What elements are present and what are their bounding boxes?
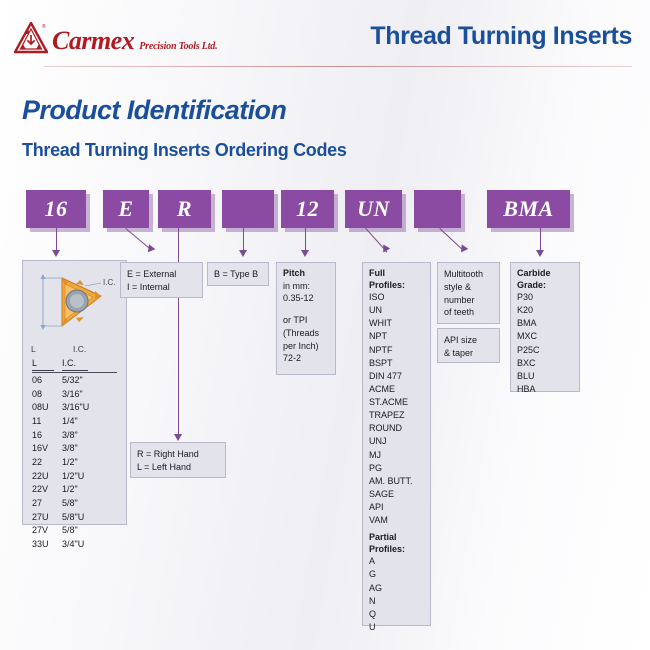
code-box-profile[interactable]: UN [345, 190, 402, 228]
size-table-cell-l: 27V [32, 524, 62, 538]
carmex-triangle-logo-icon: ® [14, 22, 48, 54]
size-table-cell-l: 22V [32, 483, 62, 497]
size-table-cell-ic: 3/8" [62, 442, 114, 456]
brand-tagline: Precision Tools Ltd. [139, 41, 217, 52]
code-box-hand-ext[interactable]: E [103, 190, 149, 228]
full-profiles-heading-line1: Full [369, 268, 424, 280]
code-box-direction[interactable]: R [158, 190, 211, 228]
size-table-row: 275/8" [32, 497, 117, 511]
connector-direction-arrow [174, 434, 182, 441]
connector-size [56, 228, 57, 252]
code-box-grade[interactable]: BMA [487, 190, 570, 228]
multitooth-line4: of teeth [444, 306, 493, 319]
size-table-row: 33U3/4"U [32, 538, 117, 552]
size-table-row: 163/8" [32, 429, 117, 443]
type-line: B = Type B [214, 268, 262, 281]
full-profile-item: NPT [369, 330, 424, 343]
grade-heading-line2: Grade: [517, 280, 573, 292]
size-table-row: 27U5/8"U [32, 511, 117, 525]
grade-item: BLU [517, 370, 573, 383]
size-descriptor-box[interactable]: I.C. L I.C. L I.C. 065/32"083/16"08U3/16… [22, 260, 127, 525]
grade-descriptor-box[interactable]: Carbide Grade: P30K20BMAMXCP25CBXCBLUHBA [510, 262, 580, 392]
connector-size-arrow [52, 250, 60, 257]
pitch-line-mm: in mm: [283, 280, 329, 293]
code-box-size-label: 16 [45, 196, 68, 222]
size-table-header-l: L [32, 357, 54, 371]
full-profile-item: MJ [369, 449, 424, 462]
api-line1: API size [444, 334, 493, 347]
partial-profile-item: N [369, 595, 424, 608]
pitch-heading: Pitch [283, 268, 329, 280]
multitooth-line3: number [444, 294, 493, 307]
size-table-cell-ic: 5/8" [62, 524, 114, 538]
size-table-cell-l: 27 [32, 497, 62, 511]
hand-ext-descriptor-box[interactable]: E = External I = Internal [120, 262, 203, 298]
full-profile-item: AM. BUTT. [369, 475, 424, 488]
size-table-cell-ic: 3/16" [62, 388, 114, 402]
api-line2: & taper [444, 347, 493, 360]
full-profile-item: BSPT [369, 357, 424, 370]
full-profile-item: ISO [369, 291, 424, 304]
code-box-multitooth[interactable] [414, 190, 461, 228]
type-descriptor-box[interactable]: B = Type B [207, 262, 269, 286]
size-table-cell-l: 27U [32, 511, 62, 525]
grade-item: BXC [517, 357, 573, 370]
size-table-row: 065/32" [32, 374, 117, 388]
multitooth-line2: style & [444, 281, 493, 294]
hand-ext-line-internal: I = Internal [127, 281, 196, 294]
size-table-row: 111/4" [32, 415, 117, 429]
svg-text:I.C.: I.C. [103, 278, 115, 287]
pitch-line-per-inch: per Inch) [283, 340, 329, 353]
code-box-profile-label: UN [357, 196, 390, 222]
size-table-row: 22V1/2" [32, 483, 117, 497]
full-profiles-heading-line2: Profiles: [369, 280, 424, 292]
grade-list: P30K20BMAMXCP25CBXCBLUHBA [517, 291, 573, 396]
partial-profile-item: Q [369, 608, 424, 621]
size-table-cell-ic: 3/8" [62, 429, 114, 443]
grade-item: P30 [517, 291, 573, 304]
partial-profile-item: A [369, 555, 424, 568]
connector-direction [178, 228, 179, 436]
size-table-cell-ic: 1/2" [62, 483, 114, 497]
carmex-logo: ® Carmex Precision Tools Ltd. [14, 22, 217, 54]
connector-profile-arrow [380, 244, 390, 254]
partial-profiles-list: AGAGNQU [369, 555, 424, 634]
full-profile-item: ACME [369, 383, 424, 396]
size-table-cell-l: 16 [32, 429, 62, 443]
code-box-type[interactable] [222, 190, 274, 228]
code-box-pitch[interactable]: 12 [281, 190, 334, 228]
size-table-cell-ic: 1/2" [62, 456, 114, 470]
hand-line-right: R = Right Hand [137, 448, 219, 461]
size-table-header-ic: I.C. [62, 357, 88, 371]
insert-label-l: L [31, 343, 73, 355]
page-background: ® Carmex Precision Tools Ltd. Thread Tur… [0, 0, 650, 650]
partial-profiles-heading-line1: Partial [369, 532, 424, 544]
pitch-descriptor-box[interactable]: Pitch in mm: 0.35-12 or TPI (Threads per… [276, 262, 336, 375]
api-descriptor-box[interactable]: API size & taper [437, 328, 500, 363]
size-table-row: 08U3/16"U [32, 401, 117, 415]
size-table-cell-l: 08 [32, 388, 62, 402]
full-profile-item: API [369, 501, 424, 514]
size-table-cell-l: 06 [32, 374, 62, 388]
size-table-cell-l: 33U [32, 538, 62, 552]
connector-multitooth-arrow [458, 244, 469, 254]
size-table-cell-ic: 1/2"U [62, 470, 114, 484]
pitch-line-threads: (Threads [283, 327, 329, 340]
size-table-cell-ic: 3/4"U [62, 538, 114, 552]
size-table-cell-ic: 1/4" [62, 415, 114, 429]
size-table-header: L I.C. [32, 357, 117, 373]
grade-item: K20 [517, 304, 573, 317]
hand-descriptor-box[interactable]: R = Right Hand L = Left Hand [130, 442, 226, 478]
grade-item: P25C [517, 344, 573, 357]
connector-grade-arrow [536, 250, 544, 257]
size-table-cell-l: 11 [32, 415, 62, 429]
full-profile-item: WHIT [369, 317, 424, 330]
full-profile-item: PG [369, 462, 424, 475]
header-divider [44, 66, 632, 67]
multitooth-line1: Multitooth [444, 268, 493, 281]
size-table-row: 22U1/2"U [32, 470, 117, 484]
full-profile-item: ROUND [369, 422, 424, 435]
partial-profiles-heading-line2: Profiles: [369, 544, 424, 556]
grade-item: BMA [517, 317, 573, 330]
grade-item: MXC [517, 330, 573, 343]
size-table-row: 221/2" [32, 456, 117, 470]
full-profiles-list: ISOUNWHITNPTNPTFBSPTDIN 477ACMEST.ACMETR… [369, 291, 424, 527]
insert-label-ic: I.C. [73, 343, 86, 355]
size-table-cell-l: 08U [32, 401, 62, 415]
partial-profile-item: G [369, 568, 424, 581]
pitch-line-tpi: or TPI [283, 314, 329, 327]
svg-text:®: ® [42, 23, 46, 30]
insert-diagram: I.C. [27, 266, 123, 342]
pitch-line-mm-range: 0.35-12 [283, 292, 329, 305]
size-table-cell-ic: 5/8"U [62, 511, 114, 525]
connector-pitch-arrow [301, 250, 309, 257]
profiles-descriptor-box[interactable]: Full Profiles: ISOUNWHITNPTNPTFBSPTDIN 4… [362, 262, 431, 626]
page-subtitle: Thread Turning Inserts Ordering Codes [22, 140, 347, 161]
full-profile-item: NPTF [369, 344, 424, 357]
size-table-cell-l: 22 [32, 456, 62, 470]
connector-pitch [305, 228, 306, 252]
code-box-grade-label: BMA [503, 196, 553, 222]
code-box-size[interactable]: 16 [26, 190, 86, 228]
partial-profile-item: U [369, 621, 424, 634]
grade-heading-line1: Carbide [517, 268, 573, 280]
code-box-direction-label: R [177, 196, 192, 222]
size-table-row: 16V3/8" [32, 442, 117, 456]
page-title: Product Identification [22, 95, 286, 126]
page-header: ® Carmex Precision Tools Ltd. Thread Tur… [0, 0, 650, 72]
full-profile-item: TRAPEZ [369, 409, 424, 422]
size-table-cell-l: 22U [32, 470, 62, 484]
size-table-cell-ic: 5/32" [62, 374, 114, 388]
full-profile-item: UNJ [369, 435, 424, 448]
code-box-pitch-label: 12 [296, 196, 319, 222]
full-profile-item: DIN 477 [369, 370, 424, 383]
connector-type-arrow [239, 250, 247, 257]
connector-hand-ext-arrow [145, 244, 156, 254]
size-table-cell-ic: 5/8" [62, 497, 114, 511]
full-profile-item: VAM [369, 514, 424, 527]
grade-item: HBA [517, 383, 573, 396]
size-table-cell-l: 16V [32, 442, 62, 456]
size-table-cell-ic: 3/16"U [62, 401, 114, 415]
connector-type [243, 228, 244, 252]
brand-name: Carmex [52, 28, 134, 54]
full-profile-item: UN [369, 304, 424, 317]
connector-grade [540, 228, 541, 252]
hand-line-left: L = Left Hand [137, 461, 219, 474]
size-table-row: 083/16" [32, 388, 117, 402]
size-table-body: 065/32"083/16"08U3/16"U111/4"163/8"16V3/… [32, 374, 117, 552]
header-title: Thread Turning Inserts [370, 22, 632, 51]
code-box-hand-ext-label: E [118, 196, 133, 222]
pitch-line-tpi-range: 72-2 [283, 352, 329, 365]
hand-ext-line-external: E = External [127, 268, 196, 281]
full-profile-item: SAGE [369, 488, 424, 501]
multitooth-descriptor-box[interactable]: Multitooth style & number of teeth [437, 262, 500, 324]
partial-profile-item: AG [369, 582, 424, 595]
full-profile-item: ST.ACME [369, 396, 424, 409]
size-table-row: 27V5/8" [32, 524, 117, 538]
